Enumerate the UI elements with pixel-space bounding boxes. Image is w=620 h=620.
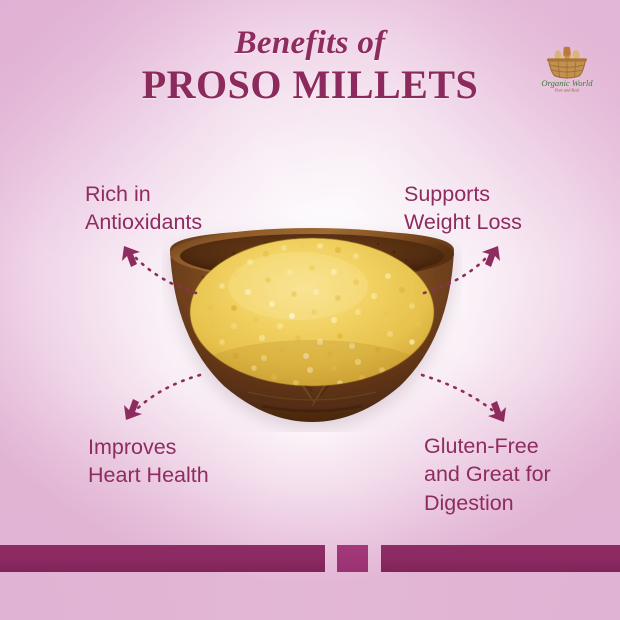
arrowhead-down-right [488, 401, 506, 422]
basket-icon [547, 47, 587, 79]
brand-logo: Organic World Pure and Real [538, 40, 596, 94]
arrowhead-down-left [124, 399, 142, 420]
title-line-benefits-of: Benefits of [0, 26, 620, 61]
infographic-poster: Benefits of PROSO MILLETS [0, 0, 620, 620]
title-line-proso-millets: PROSO MILLETS [0, 63, 620, 107]
footer-bar-right-segment [381, 545, 620, 572]
benefit-label-rich-in-antioxidants: Rich in Antioxidants [85, 180, 202, 237]
page-title: Benefits of PROSO MILLETS [0, 26, 620, 107]
benefit-label-supports-weight-loss: Supports Weight Loss [404, 180, 522, 237]
footer-bar-center-square [337, 545, 368, 572]
arrowhead-up-left [122, 246, 140, 267]
product-image-wooden-bowl [162, 216, 462, 432]
footer-decorative-bar [0, 545, 620, 572]
benefit-label-gluten-free-digestion: Gluten-Free and Great for Digestion [424, 432, 551, 517]
footer-bar-left-segment [0, 545, 325, 572]
arrowhead-up-right [482, 246, 500, 267]
logo-tagline-text: Pure and Real [554, 88, 580, 93]
benefit-label-improves-heart-health: Improves Heart Health [88, 433, 209, 490]
